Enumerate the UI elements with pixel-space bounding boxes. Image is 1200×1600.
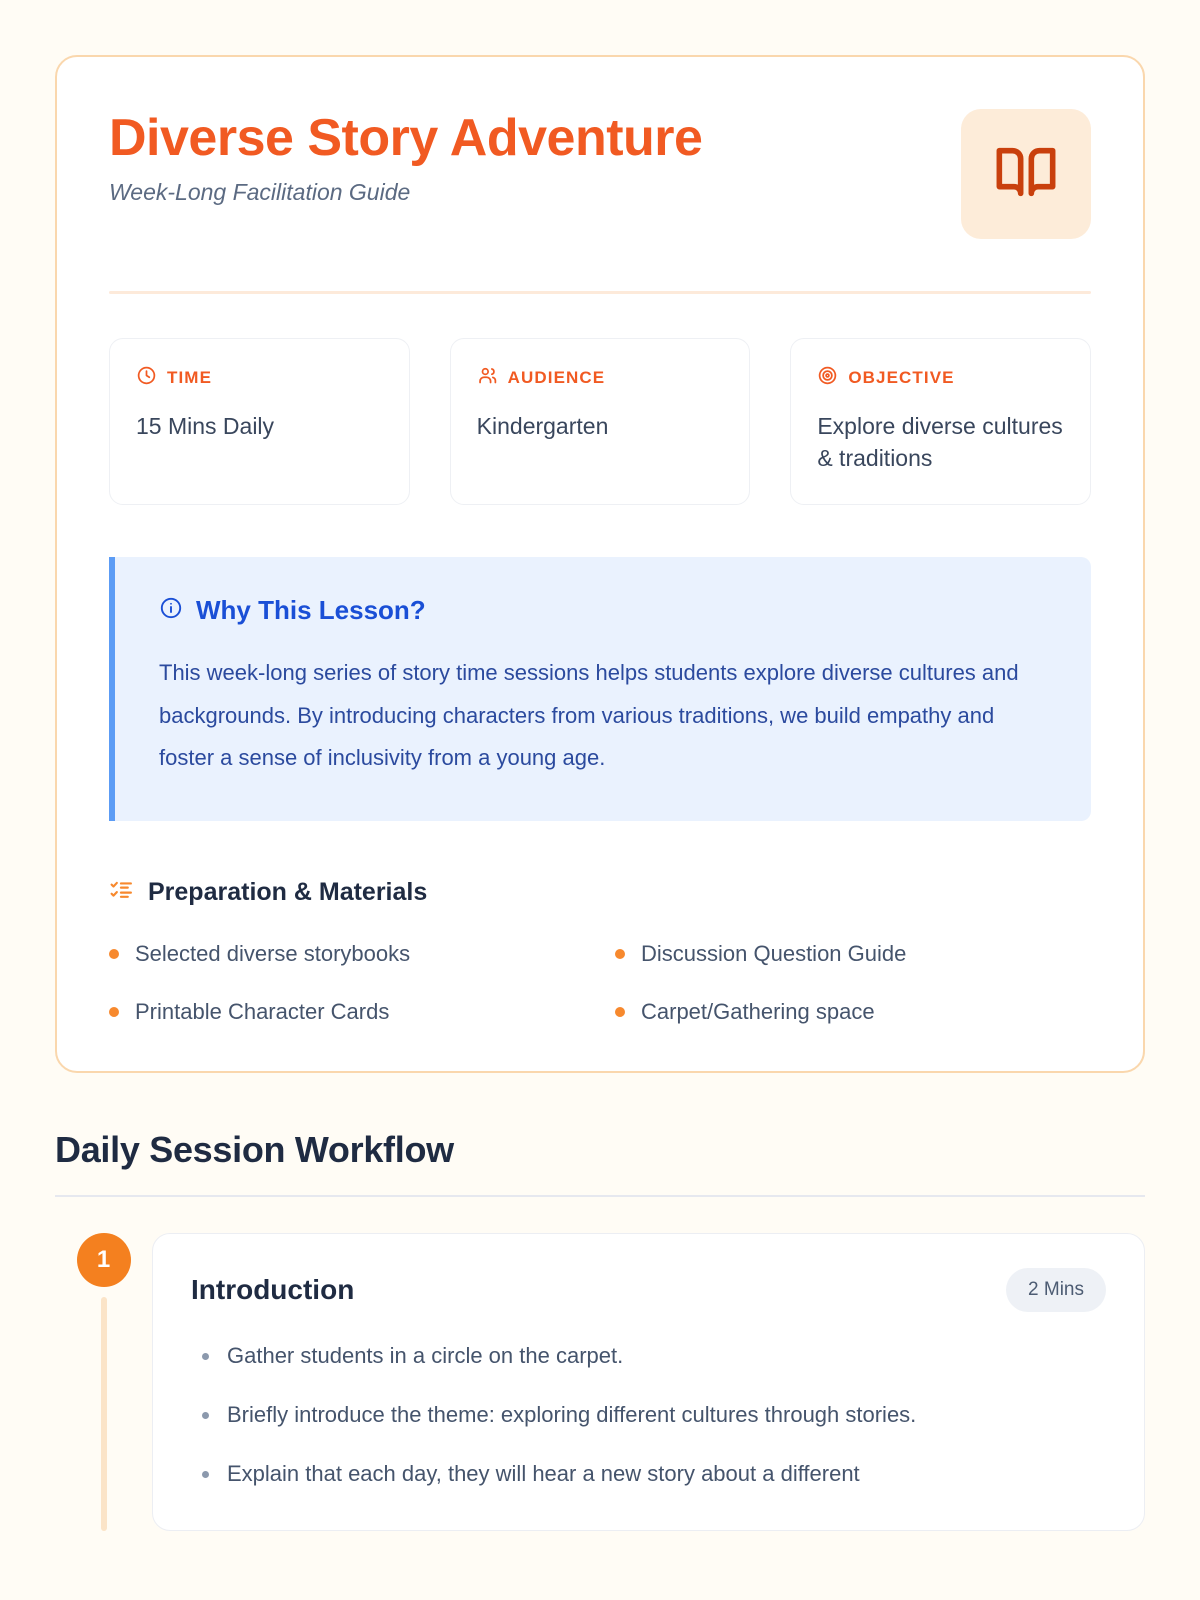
hero-header: Diverse Story Adventure Week-Long Facili…	[109, 109, 1091, 239]
step-bullet: Briefly introduce the theme: exploring d…	[191, 1399, 1106, 1431]
step-card-header: Introduction 2 Mins	[191, 1268, 1106, 1312]
material-item: Discussion Question Guide	[615, 941, 1091, 967]
open-book-icon	[994, 140, 1058, 209]
material-item-label: Carpet/Gathering space	[641, 999, 875, 1025]
info-card-audience-header: AUDIENCE	[477, 365, 724, 391]
info-card-time-header: TIME	[136, 365, 383, 391]
info-circle-icon	[159, 596, 183, 625]
info-card-objective-label: OBJECTIVE	[848, 368, 954, 388]
lesson-overview-card: Diverse Story Adventure Week-Long Facili…	[55, 55, 1145, 1073]
info-card-time: TIME 15 Mins Daily	[109, 338, 410, 505]
step-number-badge: 1	[77, 1233, 131, 1287]
info-card-time-label: TIME	[167, 368, 212, 388]
page-title: Diverse Story Adventure	[109, 109, 702, 167]
callout-header: Why This Lesson?	[159, 595, 1047, 626]
step-connector-line	[101, 1297, 107, 1531]
info-card-time-value: 15 Mins Daily	[136, 411, 383, 443]
preparation-title: Preparation & Materials	[148, 878, 427, 907]
clock-icon	[136, 365, 157, 391]
material-item-label: Discussion Question Guide	[641, 941, 906, 967]
info-card-objective-value: Explore diverse cultures & traditions	[817, 411, 1064, 474]
preparation-materials-grid: Selected diverse storybooks Discussion Q…	[109, 941, 1091, 1025]
step-bullet: Explain that each day, they will hear a …	[191, 1458, 1106, 1490]
material-item-label: Selected diverse storybooks	[135, 941, 410, 967]
page-subtitle: Week-Long Facilitation Guide	[109, 179, 702, 206]
callout-body: This week-long series of story time sess…	[159, 652, 1047, 779]
callout-title: Why This Lesson?	[196, 595, 426, 626]
info-card-audience-label: AUDIENCE	[508, 368, 606, 388]
bullet-dot-icon	[615, 1007, 625, 1017]
lesson-plan-page: Diverse Story Adventure Week-Long Facili…	[0, 0, 1200, 1600]
material-item: Selected diverse storybooks	[109, 941, 585, 967]
checklist-icon	[109, 877, 134, 907]
hero-divider	[109, 291, 1091, 294]
info-card-objective-header: OBJECTIVE	[817, 365, 1064, 391]
step-title: Introduction	[191, 1274, 354, 1306]
bullet-dot-icon	[109, 949, 119, 959]
open-book-icon-tile	[961, 109, 1091, 239]
info-card-audience: AUDIENCE Kindergarten	[450, 338, 751, 505]
step-bullet: Gather students in a circle on the carpe…	[191, 1340, 1106, 1372]
step-rail: 1	[55, 1233, 152, 1531]
material-item: Carpet/Gathering space	[615, 999, 1091, 1025]
preparation-section: Preparation & Materials Selected diverse…	[109, 877, 1091, 1025]
bullet-dot-icon	[109, 1007, 119, 1017]
preparation-header: Preparation & Materials	[109, 877, 1091, 907]
workflow-step-1: 1 Introduction 2 Mins Gather students in…	[55, 1233, 1145, 1531]
workflow-section: Daily Session Workflow 1 Introduction 2 …	[55, 1129, 1145, 1531]
info-card-objective: OBJECTIVE Explore diverse cultures & tra…	[790, 338, 1091, 505]
hero-text-block: Diverse Story Adventure Week-Long Facili…	[109, 109, 702, 206]
lesson-meta-grid: TIME 15 Mins Daily AUDIENCE	[109, 338, 1091, 505]
step-bullet-list: Gather students in a circle on the carpe…	[191, 1340, 1106, 1490]
why-this-lesson-callout: Why This Lesson? This week-long series o…	[109, 557, 1091, 821]
target-icon	[817, 365, 838, 391]
step-duration-badge: 2 Mins	[1006, 1268, 1106, 1312]
material-item-label: Printable Character Cards	[135, 999, 389, 1025]
step-card-introduction: Introduction 2 Mins Gather students in a…	[152, 1233, 1145, 1531]
material-item: Printable Character Cards	[109, 999, 585, 1025]
users-icon	[477, 365, 498, 391]
workflow-title: Daily Session Workflow	[55, 1129, 1145, 1171]
info-card-audience-value: Kindergarten	[477, 411, 724, 443]
bullet-dot-icon	[615, 949, 625, 959]
workflow-divider	[55, 1195, 1145, 1197]
